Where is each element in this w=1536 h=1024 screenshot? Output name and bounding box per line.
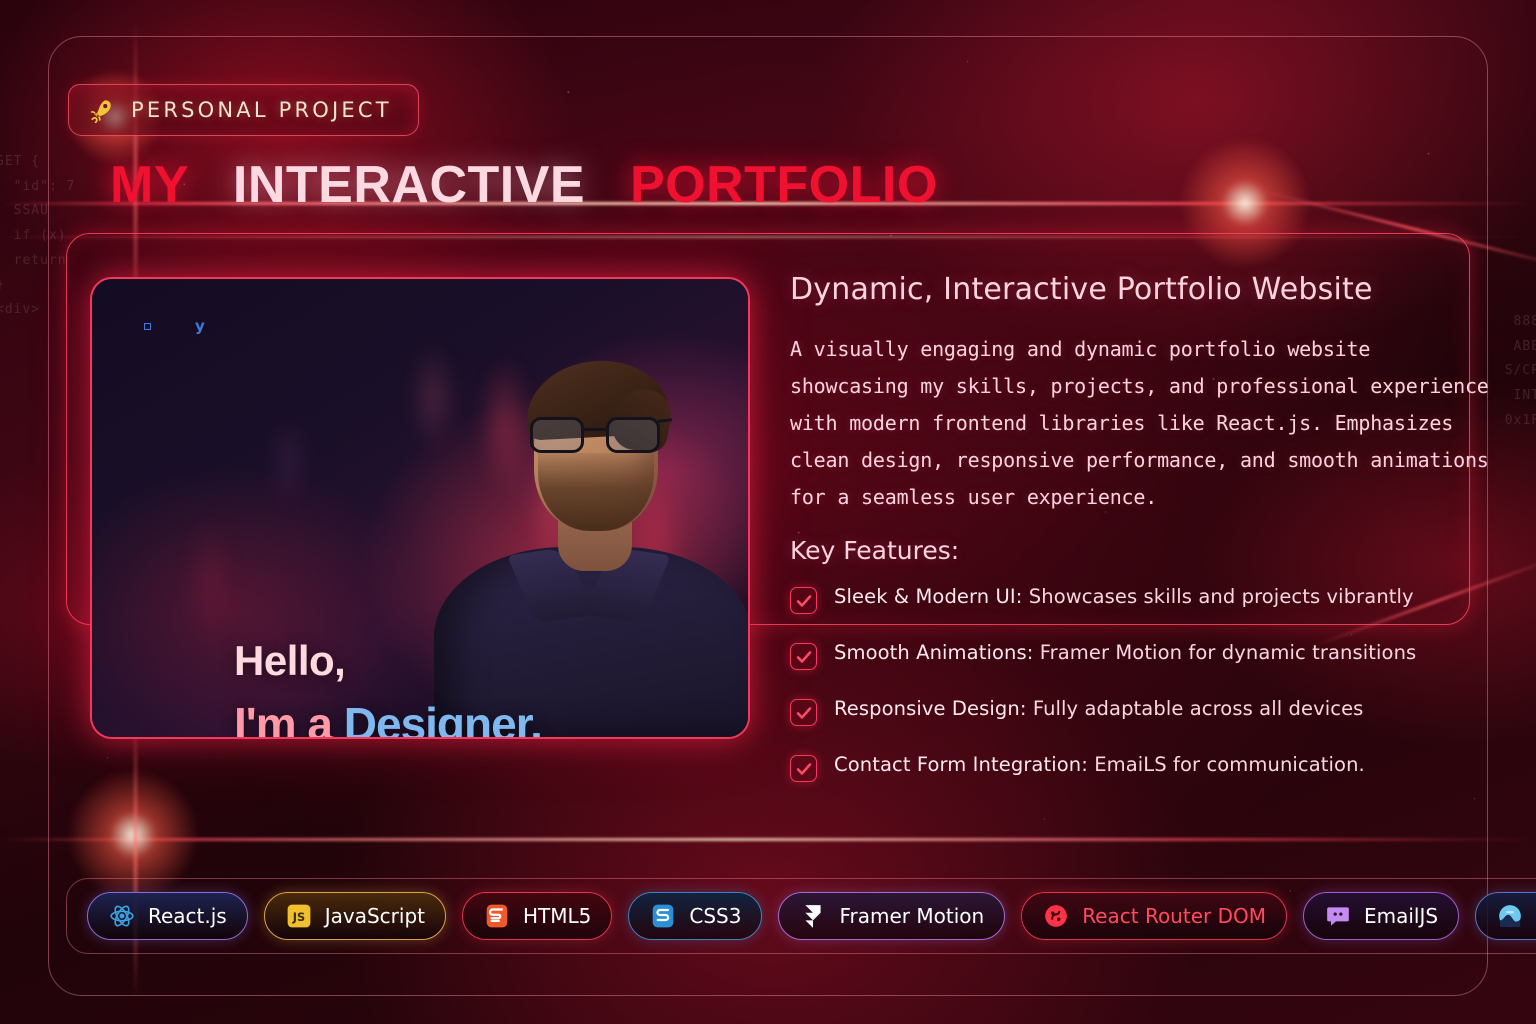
preview-nav-item[interactable]: y	[195, 317, 205, 335]
key-features-heading: Key Features:	[790, 536, 1490, 565]
tech-chip-label: HTML5	[523, 904, 591, 928]
project-description: A visually engaging and dynamic portfoli…	[790, 331, 1490, 516]
tech-chip-emailjs[interactable]: EmailJS	[1303, 892, 1459, 940]
react-atom-icon	[108, 902, 136, 930]
page-title: MY INTERACTIVE PORTFOLIO	[110, 155, 938, 215]
square-dot-icon	[144, 323, 151, 330]
feature-lead: Responsive Design:	[834, 697, 1027, 720]
page-title-word-3: PORTFOLIO	[630, 156, 938, 214]
feature-lead: Sleek & Modern UI:	[834, 585, 1022, 608]
tech-chip-label: Framer Motion	[839, 904, 984, 928]
feature-lead: Smooth Animations:	[834, 641, 1033, 664]
feature-detail: Framer Motion for dynamic transitions	[1033, 641, 1416, 664]
check-icon	[790, 699, 817, 726]
project-preview-card[interactable]: y Hello, I'm a Designer. Lorem ipsum dol…	[90, 277, 750, 739]
feature-detail: EmaiLS for communication.	[1088, 753, 1365, 776]
personal-project-badge[interactable]: PERSONAL PROJECT	[68, 84, 419, 136]
feature-text: Sleek & Modern UI: Showcases skills and …	[834, 585, 1414, 609]
preview-navbar: y	[144, 317, 205, 335]
preview-greeting: Hello,	[234, 637, 345, 685]
tech-chip-html5[interactable]: HTML5	[462, 892, 612, 940]
framer-icon	[799, 902, 827, 930]
swiper-icon	[1496, 902, 1524, 930]
portrait-illustration	[428, 297, 750, 737]
tech-chip-label: JavaScript	[325, 904, 425, 928]
tech-chip-react-router-dom[interactable]: React Router DOM	[1021, 892, 1287, 940]
key-features-list: Sleek & Modern UI: Showcases skills and …	[790, 585, 1490, 782]
feature-detail: Fully adaptable across all devices	[1027, 697, 1364, 720]
tech-stack-bar: React.jsJSJavaScriptHTML5CSS3Framer Moti…	[66, 878, 1536, 954]
tech-chip-css3[interactable]: CSS3	[628, 892, 762, 940]
tech-chip-label: React Router DOM	[1082, 904, 1266, 928]
feature-text: Contact Form Integration: EmaiLS for com…	[834, 753, 1365, 777]
svg-text:JS: JS	[292, 910, 305, 924]
emailjs-icon	[1324, 902, 1352, 930]
js-square-icon: JS	[285, 902, 313, 930]
preview-role-line: I'm a Designer.	[234, 697, 542, 739]
html5-icon	[483, 902, 511, 930]
tech-chip-javascript[interactable]: JSJavaScript	[264, 892, 446, 940]
css3-icon	[649, 902, 677, 930]
feature-detail: Showcases skills and projects vibrantly	[1022, 585, 1413, 608]
tech-chip-react-js[interactable]: React.js	[87, 892, 248, 940]
slide-stage: PERSONAL PROJECT MY INTERACTIVE PORTFOLI…	[0, 0, 1536, 1024]
project-details-column: Dynamic, Interactive Portfolio Website A…	[790, 272, 1490, 809]
feature-text: Smooth Animations: Framer Motion for dyn…	[834, 641, 1416, 665]
feature-item: Sleek & Modern UI: Showcases skills and …	[790, 585, 1490, 614]
page-title-word-2: INTERACTIVE	[233, 156, 585, 214]
personal-project-badge-label: PERSONAL PROJECT	[131, 98, 392, 122]
project-heading: Dynamic, Interactive Portfolio Website	[790, 272, 1490, 307]
feature-lead: Contact Form Integration:	[834, 753, 1088, 776]
tech-chip-label: EmailJS	[1364, 904, 1438, 928]
tech-chip-label: React.js	[148, 904, 227, 928]
rocket-icon	[89, 97, 115, 123]
check-icon	[790, 643, 817, 670]
check-icon	[790, 755, 817, 782]
feature-item: Responsive Design: Fully adaptable acros…	[790, 697, 1490, 726]
preview-role-highlight: Designer.	[344, 698, 542, 739]
feature-item: Contact Form Integration: EmaiLS for com…	[790, 753, 1490, 782]
feature-text: Responsive Design: Fully adaptable acros…	[834, 697, 1363, 721]
tech-chip-label: CSS3	[689, 904, 741, 928]
preview-role-prefix: I'm a	[234, 698, 344, 739]
check-icon	[790, 587, 817, 614]
tech-chip-framer-motion[interactable]: Framer Motion	[778, 892, 1005, 940]
tech-chip-swiper[interactable]: Swiper	[1475, 892, 1536, 940]
eyeglasses-icon	[528, 415, 666, 455]
react-router-icon	[1042, 902, 1070, 930]
page-title-word-1: MY	[110, 156, 188, 214]
feature-item: Smooth Animations: Framer Motion for dyn…	[790, 641, 1490, 670]
